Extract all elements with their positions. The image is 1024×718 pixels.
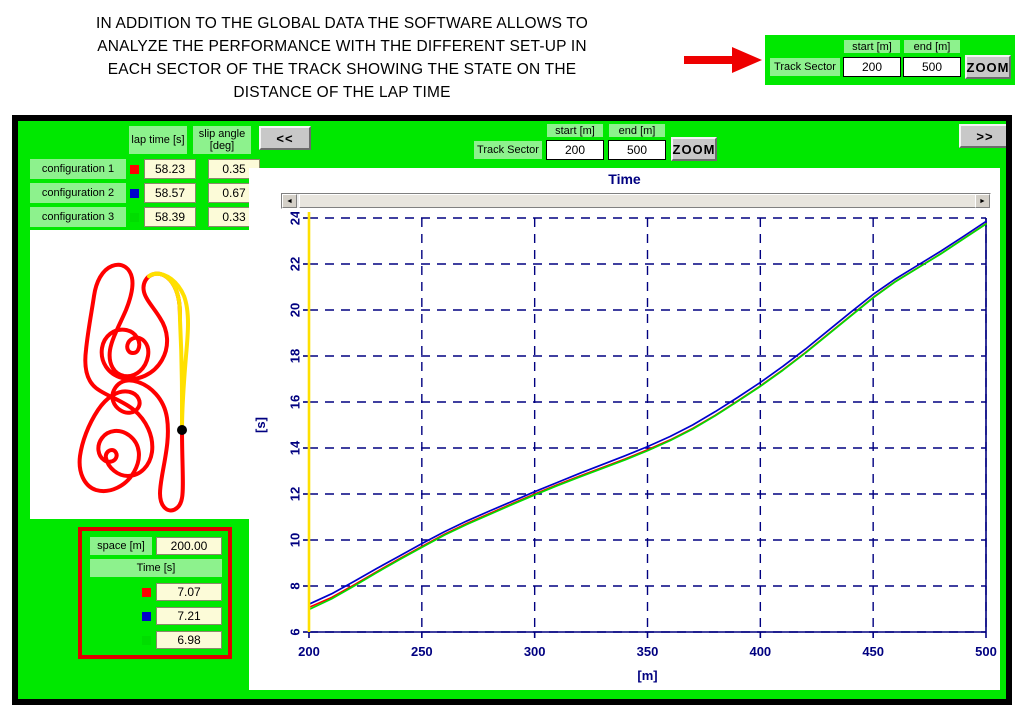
track-map-panel[interactable] (30, 230, 252, 519)
chart-panel: Time ◄ ► 6810121416182022242002503003504… (249, 168, 1000, 690)
svg-text:400: 400 (749, 644, 771, 659)
svg-text:10: 10 (288, 533, 303, 547)
readout-row: 6.98 (90, 631, 222, 649)
track-map-svg (30, 230, 252, 519)
svg-text:20: 20 (288, 303, 303, 317)
config-lap-time-1: 58.23 (144, 159, 196, 179)
callout-zoom-button[interactable]: ZOOM (965, 55, 1011, 79)
svg-text:200: 200 (298, 644, 320, 659)
readout-time-value-3: 6.98 (156, 631, 222, 649)
svg-text:24: 24 (288, 212, 303, 225)
config-color-swatch-1 (130, 165, 139, 174)
application-window: lap time [s] slip angle [deg] << >> conf… (18, 121, 1006, 699)
time-vs-distance-plot[interactable]: 681012141618202224200250300350400450500[… (249, 212, 1000, 690)
scrollbar-thumb[interactable] (299, 194, 989, 208)
readout-space-label: space [m] (90, 537, 152, 555)
caption-line-3: EACH SECTOR OF THE TRACK SHOWING THE STA… (18, 58, 666, 81)
caption-line-2: ANALYZE THE PERFORMANCE WITH THE DIFFERE… (18, 35, 666, 58)
readout-color-swatch-2 (142, 612, 151, 621)
config-color-swatch-3 (130, 213, 139, 222)
svg-text:18: 18 (288, 349, 303, 363)
svg-text:500: 500 (975, 644, 997, 659)
config-name-1: configuration 1 (30, 159, 126, 179)
nav-next-button[interactable]: >> (959, 124, 1006, 148)
svg-text:[s]: [s] (253, 417, 268, 433)
toolbar-end-input[interactable]: 500 (608, 140, 666, 160)
callout-track-sector-label: Track Sector (769, 57, 841, 77)
table-row[interactable]: configuration 3 58.39 0.33 (30, 207, 252, 227)
svg-text:[m]: [m] (637, 668, 657, 683)
readout-time-value-2: 7.21 (156, 607, 222, 625)
readout-color-swatch-3 (142, 636, 151, 645)
readout-time-header: Time [s] (90, 559, 222, 577)
track-outline-path (80, 265, 183, 511)
readout-time-value-1: 7.07 (156, 583, 222, 601)
caption-line-4: DISTANCE OF THE LAP TIME (18, 81, 666, 104)
config-name-2: configuration 2 (30, 183, 126, 203)
callout-end-input[interactable]: 500 (903, 57, 961, 77)
svg-text:250: 250 (411, 644, 433, 659)
chart-title: Time (249, 171, 1000, 187)
config-lap-time-2: 58.57 (144, 183, 196, 203)
readout-space-value: 200.00 (156, 537, 222, 555)
screenshot-root: IN ADDITION TO THE GLOBAL DATA THE SOFTW… (0, 0, 1024, 718)
slip-angle-header-line2: [deg] (210, 140, 234, 152)
scroll-left-arrow-icon[interactable]: ◄ (282, 194, 297, 208)
toolbar-zoom-button[interactable]: ZOOM (671, 137, 717, 161)
toolbar-track-sector-label: Track Sector (473, 140, 543, 160)
chart-horizontal-scrollbar[interactable]: ◄ ► (281, 193, 991, 209)
table-row[interactable]: configuration 1 58.23 0.35 (30, 159, 252, 179)
svg-text:8: 8 (288, 582, 303, 589)
svg-text:22: 22 (288, 257, 303, 271)
chart-track-sector-toolbar: start [m] end [m] Track Sector 200 500 Z… (473, 123, 708, 157)
column-header-lap-time: lap time [s] (128, 125, 188, 155)
readout-panel: space [m] 200.00 Time [s] 7.07 7.21 6.98 (78, 527, 232, 659)
table-row[interactable]: configuration 2 58.57 0.67 (30, 183, 252, 203)
scroll-right-arrow-icon[interactable]: ► (975, 194, 990, 208)
column-header-slip-angle: slip angle [deg] (192, 125, 252, 155)
slip-angle-header-line1: slip angle (199, 128, 245, 140)
track-sector-callout: start [m] end [m] Track Sector 200 500 Z… (765, 35, 1015, 85)
readout-color-swatch-1 (142, 588, 151, 597)
callout-start-header: start [m] (843, 39, 901, 54)
readout-row: 7.21 (90, 607, 222, 625)
svg-text:350: 350 (637, 644, 659, 659)
readout-row: 7.07 (90, 583, 222, 601)
svg-text:450: 450 (862, 644, 884, 659)
toolbar-start-input[interactable]: 200 (546, 140, 604, 160)
track-position-marker (177, 425, 187, 435)
config-name-3: configuration 3 (30, 207, 126, 227)
config-lap-time-3: 58.39 (144, 207, 196, 227)
page-title: IN ADDITION TO THE GLOBAL DATA THE SOFTW… (18, 12, 666, 104)
callout-end-header: end [m] (903, 39, 961, 54)
toolbar-start-header: start [m] (546, 123, 604, 138)
nav-prev-button[interactable]: << (259, 126, 311, 150)
callout-start-input[interactable]: 200 (843, 57, 901, 77)
application-window-frame: lap time [s] slip angle [deg] << >> conf… (12, 115, 1012, 705)
caption-line-1: IN ADDITION TO THE GLOBAL DATA THE SOFTW… (18, 12, 666, 35)
svg-text:16: 16 (288, 395, 303, 409)
config-color-swatch-2 (130, 189, 139, 198)
toolbar-end-header: end [m] (608, 123, 666, 138)
red-arrow-icon (684, 45, 764, 75)
svg-text:14: 14 (288, 440, 303, 455)
svg-text:300: 300 (524, 644, 546, 659)
svg-text:12: 12 (288, 487, 303, 501)
svg-text:6: 6 (288, 628, 303, 635)
